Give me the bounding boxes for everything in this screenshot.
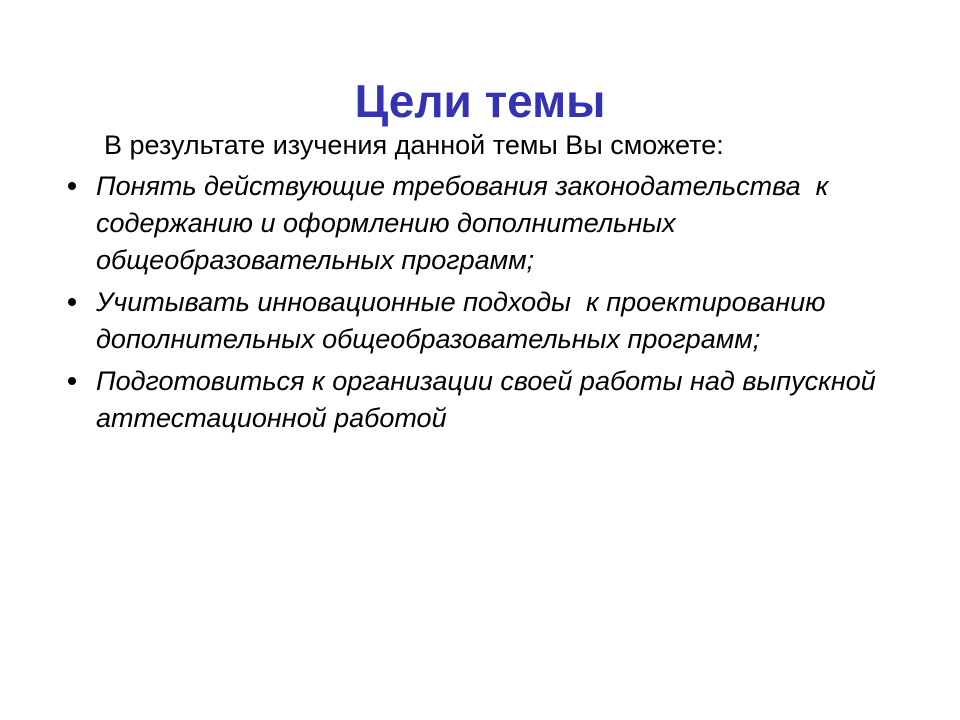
bullet-dot-icon bbox=[68, 377, 76, 385]
bullet-dot-icon bbox=[68, 298, 76, 306]
slide-canvas: Цели темы В результате изучения данной т… bbox=[0, 0, 960, 720]
list-item-label: Подготовиться к организации своей работы… bbox=[96, 363, 900, 437]
list-item: Подготовиться к организации своей работы… bbox=[60, 363, 900, 437]
list-item-label: Понять действующие требования законодате… bbox=[96, 168, 900, 279]
bullet-dot-icon bbox=[68, 182, 76, 190]
list-item: Учитывать инновационные подходы к проект… bbox=[60, 284, 900, 358]
page-title: Цели темы bbox=[0, 77, 960, 126]
slide-body: В результате изучения данной темы Вы смо… bbox=[60, 128, 900, 442]
list-item-label: Учитывать инновационные подходы к проект… bbox=[96, 284, 900, 358]
lead-line: В результате изучения данной темы Вы смо… bbox=[104, 128, 900, 164]
list-item: Понять действующие требования законодате… bbox=[60, 168, 900, 279]
objectives-list: Понять действующие требования законодате… bbox=[60, 168, 900, 437]
